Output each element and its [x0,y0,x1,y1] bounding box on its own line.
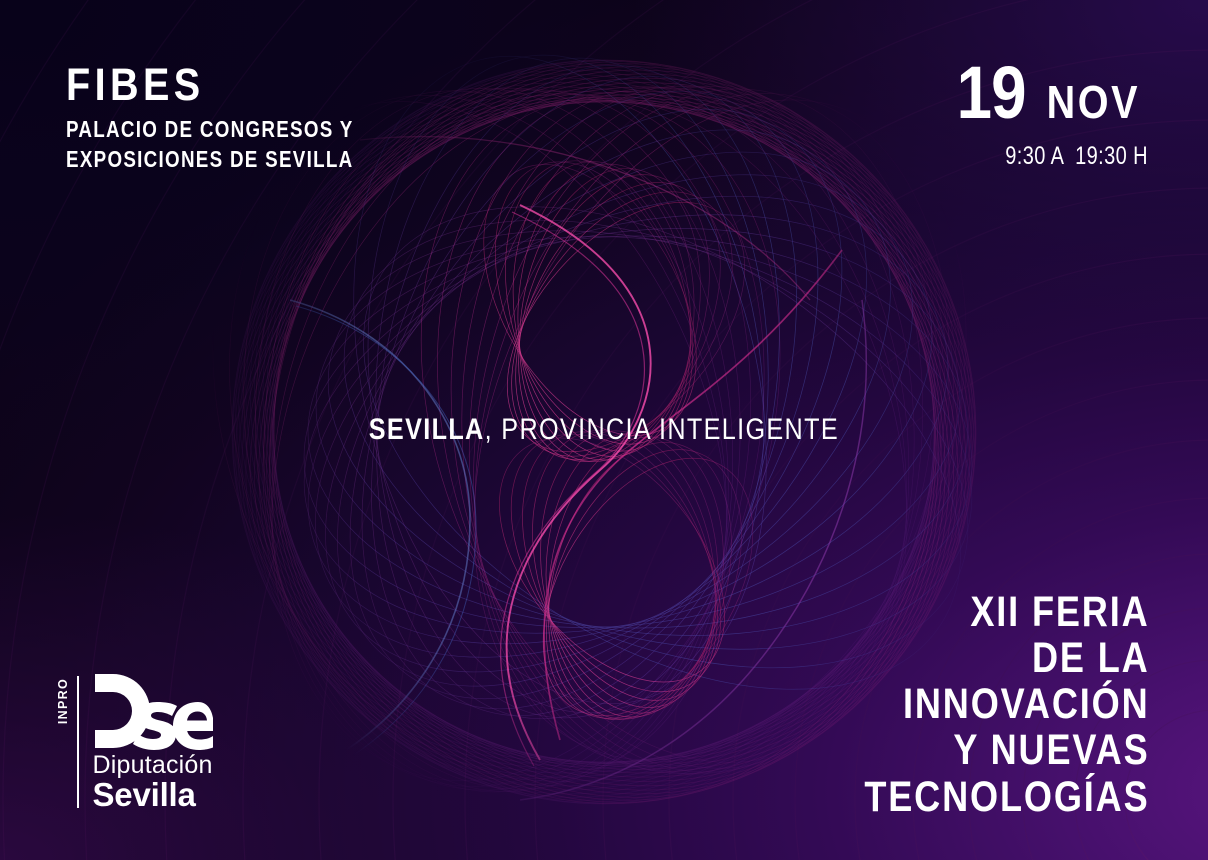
title-line-1: XII FERIA [865,592,1150,633]
venue-subtitle: PALACIO DE CONGRESOS Y EXPOSICIONES DE S… [66,114,354,174]
tagline-inner: SEVILLA, PROVINCIA INTELIGENTE [369,413,839,447]
logo-diputacion-sevilla: INPRO Diputación Sevilla [56,672,213,812]
title-line-4: Y NUEVAS [865,730,1150,771]
title-line-5: TECNOLOGÍAS [865,777,1150,818]
date-month: NOV [1047,79,1140,125]
date-block: 19 NOV 9:30 A 19:30 H [951,56,1148,171]
title-line-3: INNOVACIÓN [865,684,1150,725]
main-title: XII FERIA DE LA INNOVACIÓN Y NUEVAS TECN… [810,592,1150,818]
event-poster: FIBES PALACIO DE CONGRESOS Y EXPOSICIONE… [0,0,1208,860]
venue-name: FIBES [66,62,382,107]
logo-divider [77,676,79,808]
logo-org-bold: Sevilla [93,778,213,812]
date-time-range: 9:30 A 19:30 H [990,142,1148,171]
tagline: SEVILLA, PROVINCIA INTELIGENTE [0,413,1208,447]
content-layer: FIBES PALACIO DE CONGRESOS Y EXPOSICIONE… [0,0,1208,860]
dse-monogram-icon [93,672,213,750]
title-line-2: DE LA [865,638,1150,679]
tagline-light: , PROVINCIA INTELIGENTE [485,413,839,446]
inpro-column: INPRO [56,672,77,812]
date-line: 19 NOV [951,56,1148,130]
logo-body: Diputación Sevilla [93,672,213,812]
date-day: 19 [957,56,1026,130]
tagline-bold: SEVILLA [369,413,485,446]
venue-block: FIBES PALACIO DE CONGRESOS Y EXPOSICIONE… [66,62,425,174]
inpro-label: INPRO [56,678,70,724]
logo-org-light: Diputación [93,752,213,779]
